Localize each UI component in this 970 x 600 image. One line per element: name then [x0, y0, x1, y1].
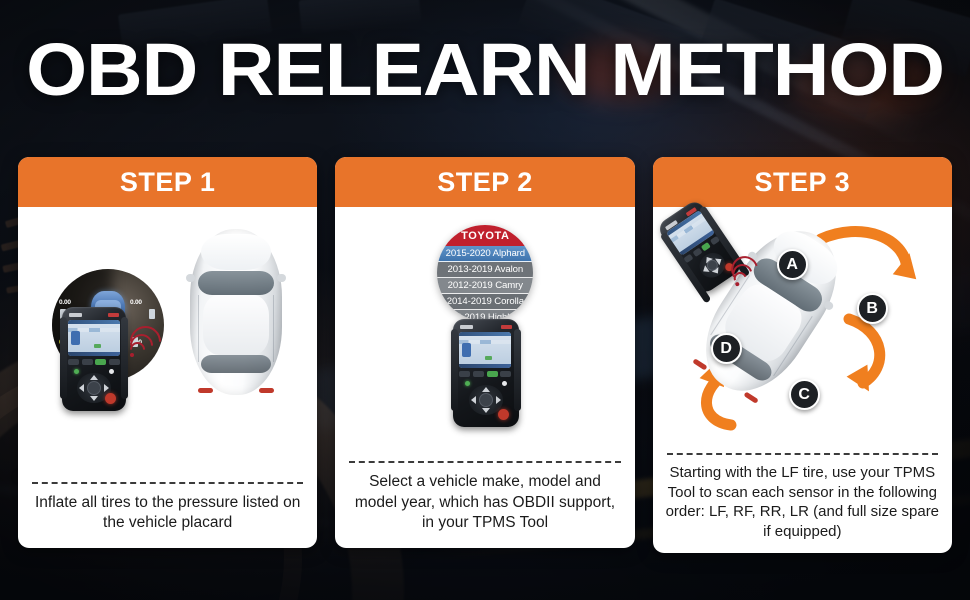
- function-key: [459, 371, 470, 377]
- page-title: OBD RELEARN METHOD: [0, 33, 970, 107]
- caption-divider: [32, 482, 303, 484]
- screen-title-bar: [68, 320, 120, 324]
- tool-function-keys: [459, 371, 511, 377]
- dpad-left-icon: [79, 384, 84, 392]
- scan-badge-b: B: [857, 293, 888, 324]
- function-key: [473, 371, 484, 377]
- vehicle-list-item-selected[interactable]: 2015-2020 Alphard: [437, 246, 533, 262]
- function-key: [68, 359, 79, 365]
- screen-title-bar: [459, 332, 511, 336]
- function-key-active: [701, 242, 711, 251]
- vehicle-mirror-left: [186, 274, 194, 282]
- function-key: [710, 236, 720, 245]
- step-1-caption: Inflate all tires to the pressure listed…: [18, 484, 317, 548]
- step-3-body: A B C D: [653, 207, 952, 553]
- step-1-body: 0.00 0.00 0.00 0.00: [18, 207, 317, 548]
- screen-status-ok: [94, 344, 101, 348]
- scan-badge-d: D: [711, 333, 742, 364]
- dpad-right-icon: [104, 384, 109, 392]
- tool-power-button: [105, 393, 116, 404]
- scan-badge-a: A: [777, 249, 808, 280]
- scan-order-diagram: A B C D: [653, 207, 952, 453]
- dpad-right-icon: [496, 396, 501, 404]
- rf-signal-icon: [130, 323, 164, 357]
- screen-vehicle-icon: [462, 343, 471, 357]
- step-2-caption: Select a vehicle make, model and model y…: [335, 463, 634, 548]
- dpad-ok-button: [479, 393, 493, 407]
- caption-divider: [667, 453, 938, 455]
- step-3-illustration: A B C D: [653, 207, 952, 453]
- vehicle-roof: [203, 295, 269, 355]
- dpad-down-icon: [90, 396, 98, 401]
- vehicle-door-seam: [198, 295, 199, 361]
- function-key-active: [95, 359, 106, 365]
- screen-status-ok: [485, 356, 492, 360]
- tool-grip-left: [60, 317, 67, 399]
- tire-pressure-front-left: 0.00: [59, 299, 71, 306]
- dpad-up-icon: [482, 387, 490, 392]
- tool-brand-strip: [460, 324, 512, 330]
- tool-grip-right: [514, 329, 521, 411]
- tpms-scan-tool: [453, 319, 519, 427]
- function-key: [82, 359, 93, 365]
- tire-indicator-front-right: [149, 309, 155, 319]
- step-3-header: STEP 3: [653, 157, 952, 207]
- tool-screen: [68, 320, 120, 356]
- dpad-up-icon: [90, 375, 98, 380]
- step-1-header: STEP 1: [18, 157, 317, 207]
- step-1-illustration: 0.00 0.00 0.00 0.00: [18, 207, 317, 482]
- function-key-active: [487, 371, 498, 377]
- vehicle-list-item[interactable]: 2012-2019 Camry: [437, 278, 533, 294]
- vehicle-list-item[interactable]: 2013-2019 Avalon: [437, 262, 533, 278]
- vehicle-windshield: [198, 271, 273, 296]
- dpad-ok-button: [87, 381, 101, 395]
- dpad-down-icon: [482, 408, 490, 413]
- vehicle-taillight-left: [198, 388, 213, 393]
- dpad-left-icon: [471, 396, 476, 404]
- step-card-3: STEP 3: [653, 157, 952, 553]
- vehicle-top-view: [190, 229, 282, 395]
- vehicle-taillight-right: [259, 388, 274, 393]
- tool-brand-strip: [69, 312, 119, 318]
- vehicle-mirror-right: [277, 274, 285, 282]
- tire-pressure-front-right: 0.00: [130, 299, 142, 306]
- scan-badge-c: C: [789, 379, 820, 410]
- tool-grip-left: [451, 329, 458, 411]
- screen-status-bar: [459, 364, 511, 368]
- function-key: [692, 248, 702, 257]
- vehicle-select-list: TOYOTA 2015-2020 Alphard 2013-2019 Avalo…: [437, 225, 533, 321]
- steps-container: STEP 1 0.00 0.00 0.00 0.00: [18, 157, 952, 553]
- caption-divider: [349, 461, 620, 463]
- vehicle-rear-window: [201, 355, 271, 373]
- tpms-scan-tool: [62, 307, 126, 411]
- tool-function-keys: [68, 359, 120, 365]
- function-key: [109, 359, 120, 365]
- vehicle-door-seam: [273, 295, 274, 361]
- tool-screen: [459, 332, 511, 368]
- step-2-body: TOYOTA 2015-2020 Alphard 2013-2019 Avalo…: [335, 207, 634, 548]
- step-card-2: STEP 2 TOYOTA 2015-2020 Alphard 2013-201…: [335, 157, 634, 548]
- tool-grip-right: [121, 317, 128, 399]
- screen-vehicle-icon: [71, 331, 80, 345]
- vehicle-hood: [201, 234, 271, 271]
- screen-status-bar: [68, 352, 120, 356]
- step-2-header: STEP 2: [335, 157, 634, 207]
- step-3-caption: Starting with the LF tire, use your TPMS…: [653, 455, 952, 553]
- poster-root: OBD RELEARN METHOD STEP 1 0.00 0.00 0.00: [0, 0, 970, 600]
- step-2-illustration: TOYOTA 2015-2020 Alphard 2013-2019 Avalo…: [335, 207, 634, 461]
- tool-power-button: [498, 409, 509, 420]
- vehicle-list-item[interactable]: 2014-2019 Corolla: [437, 294, 533, 310]
- function-key: [500, 371, 511, 377]
- vehicle-make-header: TOYOTA: [437, 225, 533, 246]
- step-card-1: STEP 1 0.00 0.00 0.00 0.00: [18, 157, 317, 548]
